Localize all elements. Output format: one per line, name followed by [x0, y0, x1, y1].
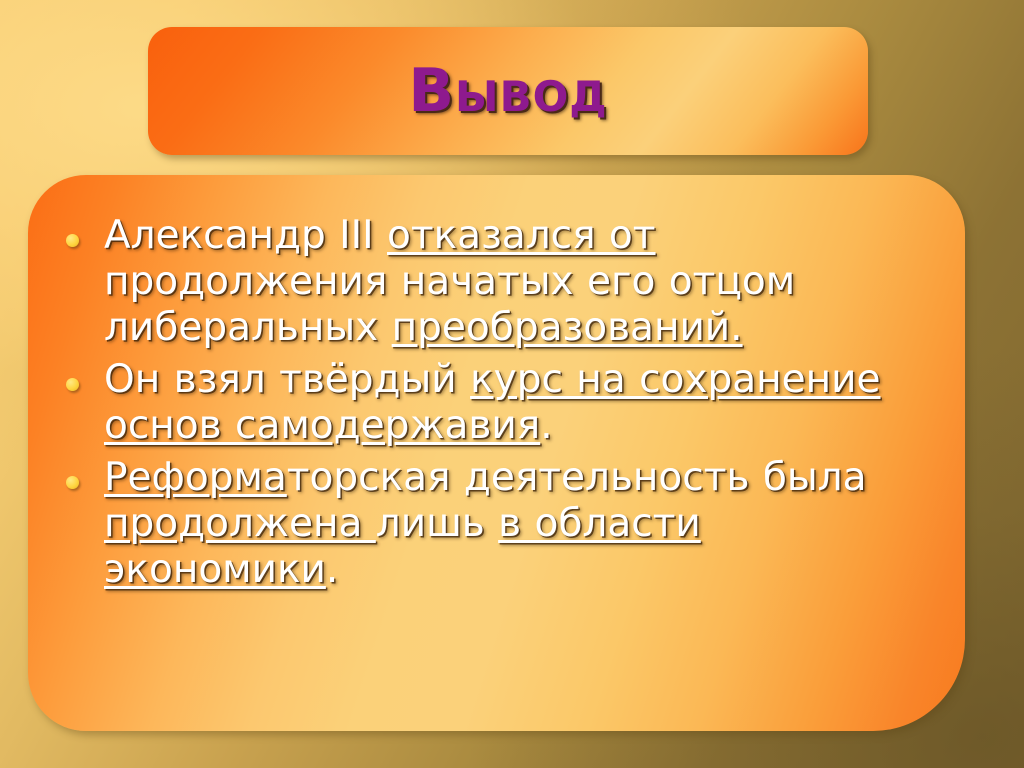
- emphasised-run: продолжена: [104, 501, 376, 546]
- bullet-marker-wrap: [66, 357, 104, 391]
- list-item-text: Александр III отказался от продолжения н…: [104, 213, 943, 351]
- bullet-marker-wrap: [66, 455, 104, 489]
- list-item-text: Реформаторская деятельность была продолж…: [104, 455, 943, 593]
- emphasised-run: преобразований.: [392, 305, 743, 350]
- bullet-dot-icon: [66, 378, 79, 391]
- list-item: Александр III отказался от продолжения н…: [66, 213, 943, 351]
- page-title: Вывод: [148, 56, 868, 126]
- plain-run: Александр III: [104, 213, 387, 258]
- plain-run: торская деятельность была: [287, 455, 867, 500]
- list-item-text: Он взял твёрдый курс на сохранение основ…: [104, 357, 943, 449]
- bullet-marker-wrap: [66, 213, 104, 247]
- bullet-dot-icon: [66, 234, 79, 247]
- plain-run: Он взял твёрдый: [104, 357, 470, 402]
- list-item: Реформаторская деятельность была продолж…: [66, 455, 943, 593]
- content-plaque: Александр III отказался от продолжения н…: [28, 175, 965, 731]
- title-plaque: Вывод: [148, 27, 868, 155]
- list-item: Он взял твёрдый курс на сохранение основ…: [66, 357, 943, 449]
- presentation-slide: Вывод Александр III отказался от продолж…: [0, 0, 1024, 768]
- bullet-list: Александр III отказался от продолжения н…: [66, 213, 943, 599]
- plain-run: лишь: [376, 501, 498, 546]
- emphasised-run: Реформа: [104, 455, 287, 500]
- plain-run: .: [326, 547, 338, 592]
- bullet-dot-icon: [66, 476, 79, 489]
- plain-run: .: [540, 403, 552, 448]
- emphasised-run: отказался от: [387, 213, 655, 258]
